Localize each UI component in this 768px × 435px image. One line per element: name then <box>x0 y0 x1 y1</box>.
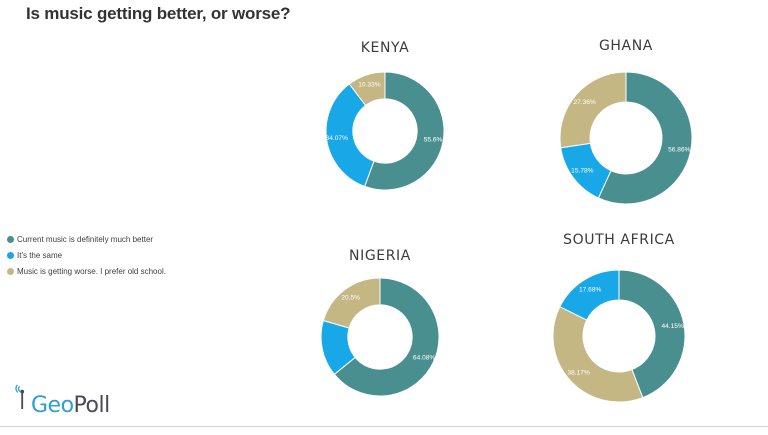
legend-label-better: Current music is definitely much better <box>17 235 153 244</box>
legend-color-swatch-worse <box>7 268 14 275</box>
donut-segment-label: 38.17% <box>567 370 590 377</box>
donut-segment <box>560 72 626 148</box>
logo-text-poll: Poll <box>74 393 110 418</box>
donut-segment-label: 34.07% <box>326 135 349 142</box>
footer-divider <box>0 426 768 427</box>
donut-segment <box>323 278 380 328</box>
donut-segment <box>553 307 643 402</box>
donut-kenya: 55.6%34.07%10.33% <box>326 72 444 190</box>
chart-title-kenya: KENYA <box>310 40 460 56</box>
logo-wordmark: GeoPoll <box>31 395 110 417</box>
legend-label-worse: Music is getting worse. I prefer old sch… <box>17 267 166 276</box>
donut-ghana: 56.86%15.78%27.36% <box>560 72 692 204</box>
donut-segment-label: 55.6% <box>424 136 443 143</box>
legend-color-swatch-same <box>7 252 14 259</box>
chart-title-south-africa: SOUTH AFRICA <box>533 232 705 248</box>
legend-item: Music is getting worse. I prefer old sch… <box>7 265 166 277</box>
chart-title-ghana: GHANA <box>540 38 712 54</box>
page-title: Is music getting better, or worse? <box>26 4 290 24</box>
donut-segment-label: 64.08% <box>413 355 436 362</box>
donut-segment-label: 20.5% <box>341 295 360 302</box>
logo-text-geo: Geo <box>31 393 74 418</box>
donut-segment-label: 15.78% <box>571 168 594 175</box>
donut-nigeria: 64.08%20.5% <box>321 278 439 396</box>
donut-segment-label: 27.36% <box>573 99 596 106</box>
donut-segment-label: 56.86% <box>668 146 691 153</box>
legend-color-swatch-better <box>7 236 14 243</box>
donut-south-africa: 44.15%38.17%17.68% <box>553 270 685 402</box>
donut-segment-label: 44.15% <box>661 323 684 330</box>
donut-segment-label: 17.68% <box>579 286 602 293</box>
antenna-signal-icon <box>14 384 30 415</box>
donut-segment-label: 10.33% <box>358 81 381 88</box>
chart-title-nigeria: NIGERIA <box>305 248 455 264</box>
legend-item: Current music is definitely much better <box>7 233 166 245</box>
legend-label-same: It's the same <box>17 251 62 260</box>
legend-item: It's the same <box>7 249 166 261</box>
geopoll-logo: GeoPoll <box>14 384 110 417</box>
chart-legend: Current music is definitely much better … <box>7 233 166 281</box>
